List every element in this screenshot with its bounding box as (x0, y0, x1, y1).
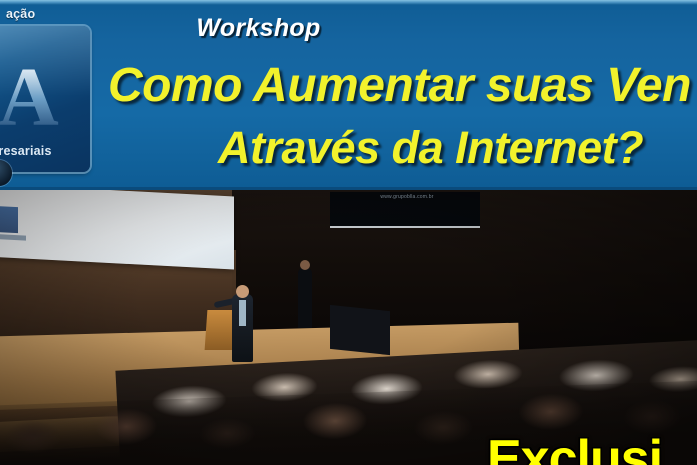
company-logo: A resariais (0, 26, 90, 172)
presenter-shirt (239, 300, 246, 326)
assistant-head (300, 260, 310, 270)
logo-kicker-text: ação (6, 7, 35, 21)
event-promo-banner: A resariais ação Workshop Como Aumentar … (0, 0, 697, 465)
banner-header: A resariais ação Workshop Como Aumentar … (0, 0, 697, 190)
logo-subtitle: resariais (0, 144, 84, 158)
slide-graphic-icon (0, 206, 18, 233)
projection-screen (0, 190, 234, 269)
logo-plate: A resariais (0, 26, 90, 172)
logo-letter-mark: A (0, 34, 84, 138)
headline-line-1: Como Aumentar suas Ven (108, 58, 691, 113)
headline-line-2: Através da Internet? (218, 122, 643, 174)
presenter-head (236, 285, 249, 298)
exclusive-headline: Exclusi (487, 429, 662, 465)
balcony-url-text: www.grupoblla.com.br (332, 194, 482, 200)
auditorium-photo: www.grupoblla.com.br Exclusi em Mace Úni… (0, 190, 697, 465)
assistant-figure (298, 268, 312, 328)
workshop-kicker: Workshop (0, 14, 697, 43)
header-top-divider (0, 0, 697, 5)
slide-text-line (0, 234, 26, 241)
